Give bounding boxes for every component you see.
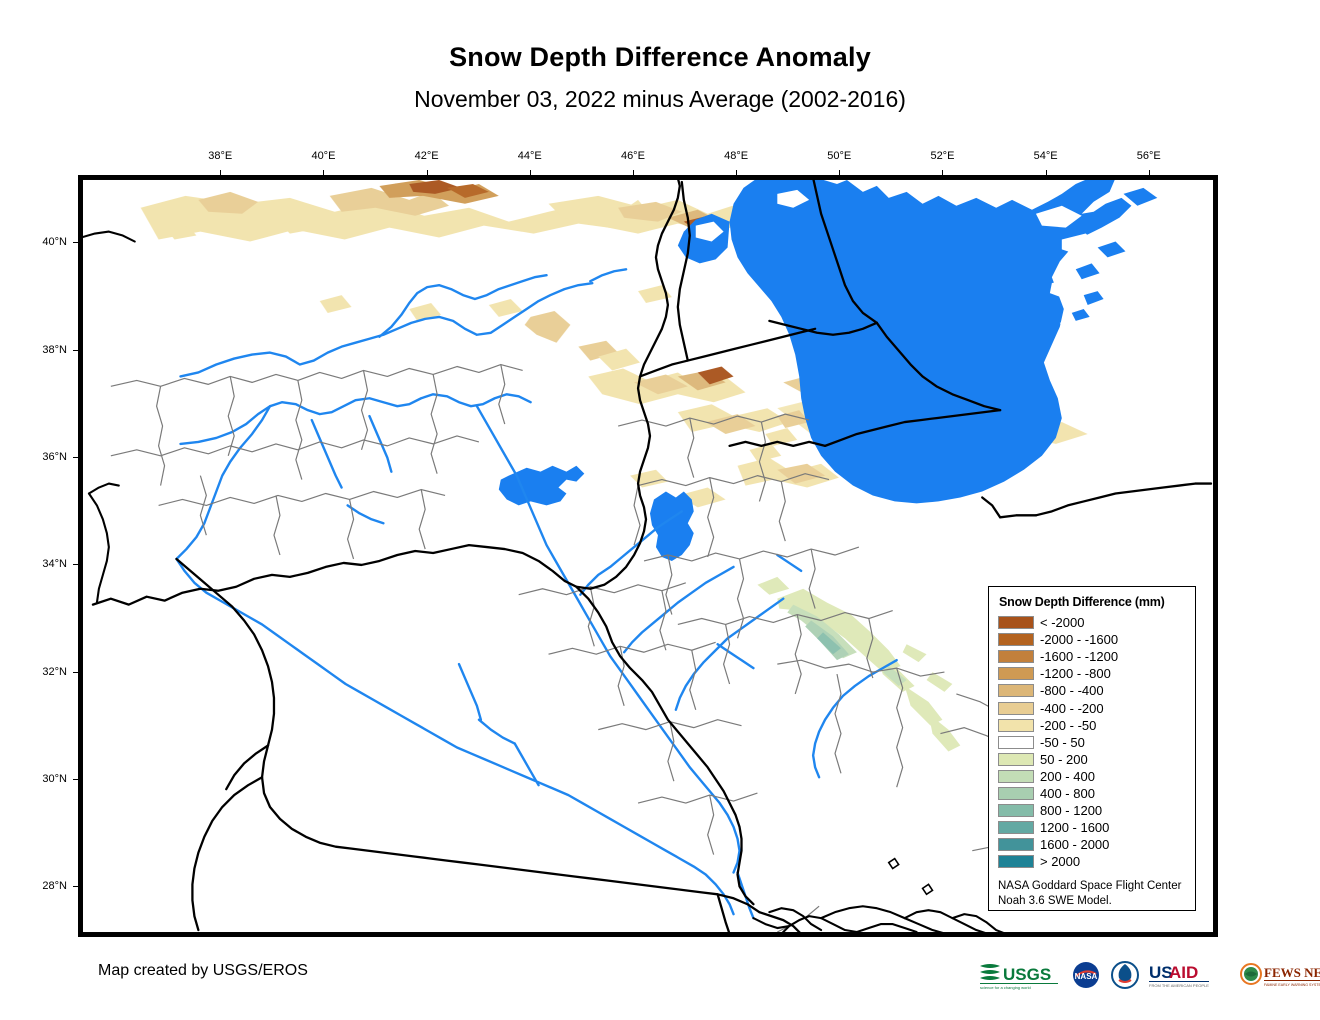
legend-swatch (998, 787, 1034, 800)
lon-tick-label: 54°E (1034, 150, 1058, 162)
svg-text:FEWS NET: FEWS NET (1264, 965, 1320, 980)
svg-text:FROM THE AMERICAN PEOPLE: FROM THE AMERICAN PEOPLE (1149, 983, 1209, 988)
legend-swatch (998, 770, 1034, 783)
lat-tick (73, 457, 81, 458)
lon-tick-label: 42°E (415, 150, 439, 162)
legend-label: -200 - -50 (1040, 719, 1096, 732)
page-subtitle: November 03, 2022 minus Average (2002-20… (0, 86, 1320, 113)
lon-tick-label: 46°E (621, 150, 645, 162)
legend-label: 200 - 400 (1040, 770, 1095, 783)
svg-text:FAMINE EARLY WARNING SYSTEMS N: FAMINE EARLY WARNING SYSTEMS NETWORK (1264, 983, 1320, 987)
svg-text:NASA: NASA (1075, 972, 1098, 981)
usgs-logo[interactable]: USGS science for a changing world (978, 960, 1062, 990)
legend-label: 400 - 800 (1040, 787, 1095, 800)
legend-row: 1600 - 2000 (998, 836, 1186, 853)
legend-label: -400 - -200 (1040, 702, 1104, 715)
legend-swatch (998, 838, 1034, 851)
legend-row: > 2000 (998, 853, 1186, 870)
svg-text:science for a changing world: science for a changing world (980, 985, 1031, 990)
legend-row: -50 - 50 (998, 734, 1186, 751)
usaid-logo[interactable]: US AID FROM THE AMERICAN PEOPLE (1149, 960, 1231, 990)
lon-tick-label: 44°E (518, 150, 542, 162)
lat-tick (73, 779, 81, 780)
legend-label: -50 - 50 (1040, 736, 1085, 749)
lon-tick-label: 50°E (827, 150, 851, 162)
legend-row: -400 - -200 (998, 699, 1186, 716)
lat-tick-label: 30°N (42, 773, 67, 785)
fewsnet-logo[interactable]: FEWS NET FAMINE EARLY WARNING SYSTEMS NE… (1240, 960, 1320, 990)
map-legend[interactable]: Snow Depth Difference (mm) < -2000-2000 … (988, 586, 1196, 911)
page-title: Snow Depth Difference Anomaly (0, 42, 1320, 73)
lat-tick-label: 28°N (42, 880, 67, 892)
legend-row: -1600 - -1200 (998, 648, 1186, 665)
legend-row: -2000 - -1600 (998, 631, 1186, 648)
noaa-logo[interactable] (1110, 960, 1140, 990)
lat-tick-label: 40°N (42, 236, 67, 248)
legend-swatch (998, 702, 1034, 715)
legend-label: -1200 - -800 (1040, 667, 1111, 680)
legend-row: -1200 - -800 (998, 665, 1186, 682)
legend-swatch (998, 753, 1034, 766)
lon-tick-label: 48°E (724, 150, 748, 162)
lon-tick-label: 56°E (1137, 150, 1161, 162)
svg-text:USGS: USGS (1003, 965, 1051, 984)
lat-tick (73, 886, 81, 887)
lat-tick (73, 242, 81, 243)
lon-tick (839, 170, 840, 178)
legend-items: < -2000-2000 - -1600-1600 - -1200-1200 -… (998, 614, 1186, 870)
legend-swatch (998, 616, 1034, 629)
legend-swatch (998, 650, 1034, 663)
lon-tick (530, 170, 531, 178)
legend-label: 1200 - 1600 (1040, 821, 1109, 834)
lon-tick (220, 170, 221, 178)
legend-label: 1600 - 2000 (1040, 838, 1109, 851)
footer-credit: Map created by USGS/EROS (98, 962, 308, 980)
legend-title: Snow Depth Difference (mm) (999, 595, 1186, 609)
legend-row: -200 - -50 (998, 717, 1186, 734)
legend-swatch (998, 633, 1034, 646)
lon-tick-label: 40°E (311, 150, 335, 162)
lat-tick-label: 32°N (42, 666, 67, 678)
legend-label: < -2000 (1040, 616, 1084, 629)
nasa-logo[interactable]: NASA (1071, 960, 1101, 990)
lat-tick (73, 672, 81, 673)
legend-row: -800 - -400 (998, 682, 1186, 699)
legend-swatch (998, 821, 1034, 834)
legend-label: -2000 - -1600 (1040, 633, 1118, 646)
legend-row: 50 - 200 (998, 751, 1186, 768)
legend-label: -800 - -400 (1040, 684, 1104, 697)
svg-text:AID: AID (1169, 963, 1198, 982)
lat-tick-label: 36°N (42, 451, 67, 463)
lon-tick-label: 38°E (208, 150, 232, 162)
legend-label: 800 - 1200 (1040, 804, 1102, 817)
legend-row: 400 - 800 (998, 785, 1186, 802)
legend-row: 1200 - 1600 (998, 819, 1186, 836)
legend-row: 800 - 1200 (998, 802, 1186, 819)
logo-bar: USGS science for a changing world NASA U… (978, 957, 1320, 993)
legend-swatch (998, 855, 1034, 868)
lon-tick (323, 170, 324, 178)
legend-swatch (998, 804, 1034, 817)
legend-swatch (998, 736, 1034, 749)
legend-label: -1600 - -1200 (1040, 650, 1118, 663)
lat-tick-label: 38°N (42, 344, 67, 356)
lat-tick-label: 34°N (42, 558, 67, 570)
lat-tick (73, 564, 81, 565)
legend-swatch (998, 684, 1034, 697)
legend-swatch (998, 667, 1034, 680)
lon-tick (736, 170, 737, 178)
lat-tick (73, 350, 81, 351)
legend-row: < -2000 (998, 614, 1186, 631)
legend-attribution: NASA Goddard Space Flight Center Noah 3.… (998, 879, 1186, 908)
lon-tick-label: 52°E (930, 150, 954, 162)
lon-tick (427, 170, 428, 178)
lon-tick (1149, 170, 1150, 178)
legend-row: 200 - 400 (998, 768, 1186, 785)
legend-swatch (998, 719, 1034, 732)
lon-tick (633, 170, 634, 178)
lon-tick (942, 170, 943, 178)
legend-label: > 2000 (1040, 855, 1080, 868)
legend-label: 50 - 200 (1040, 753, 1088, 766)
lon-tick (1046, 170, 1047, 178)
